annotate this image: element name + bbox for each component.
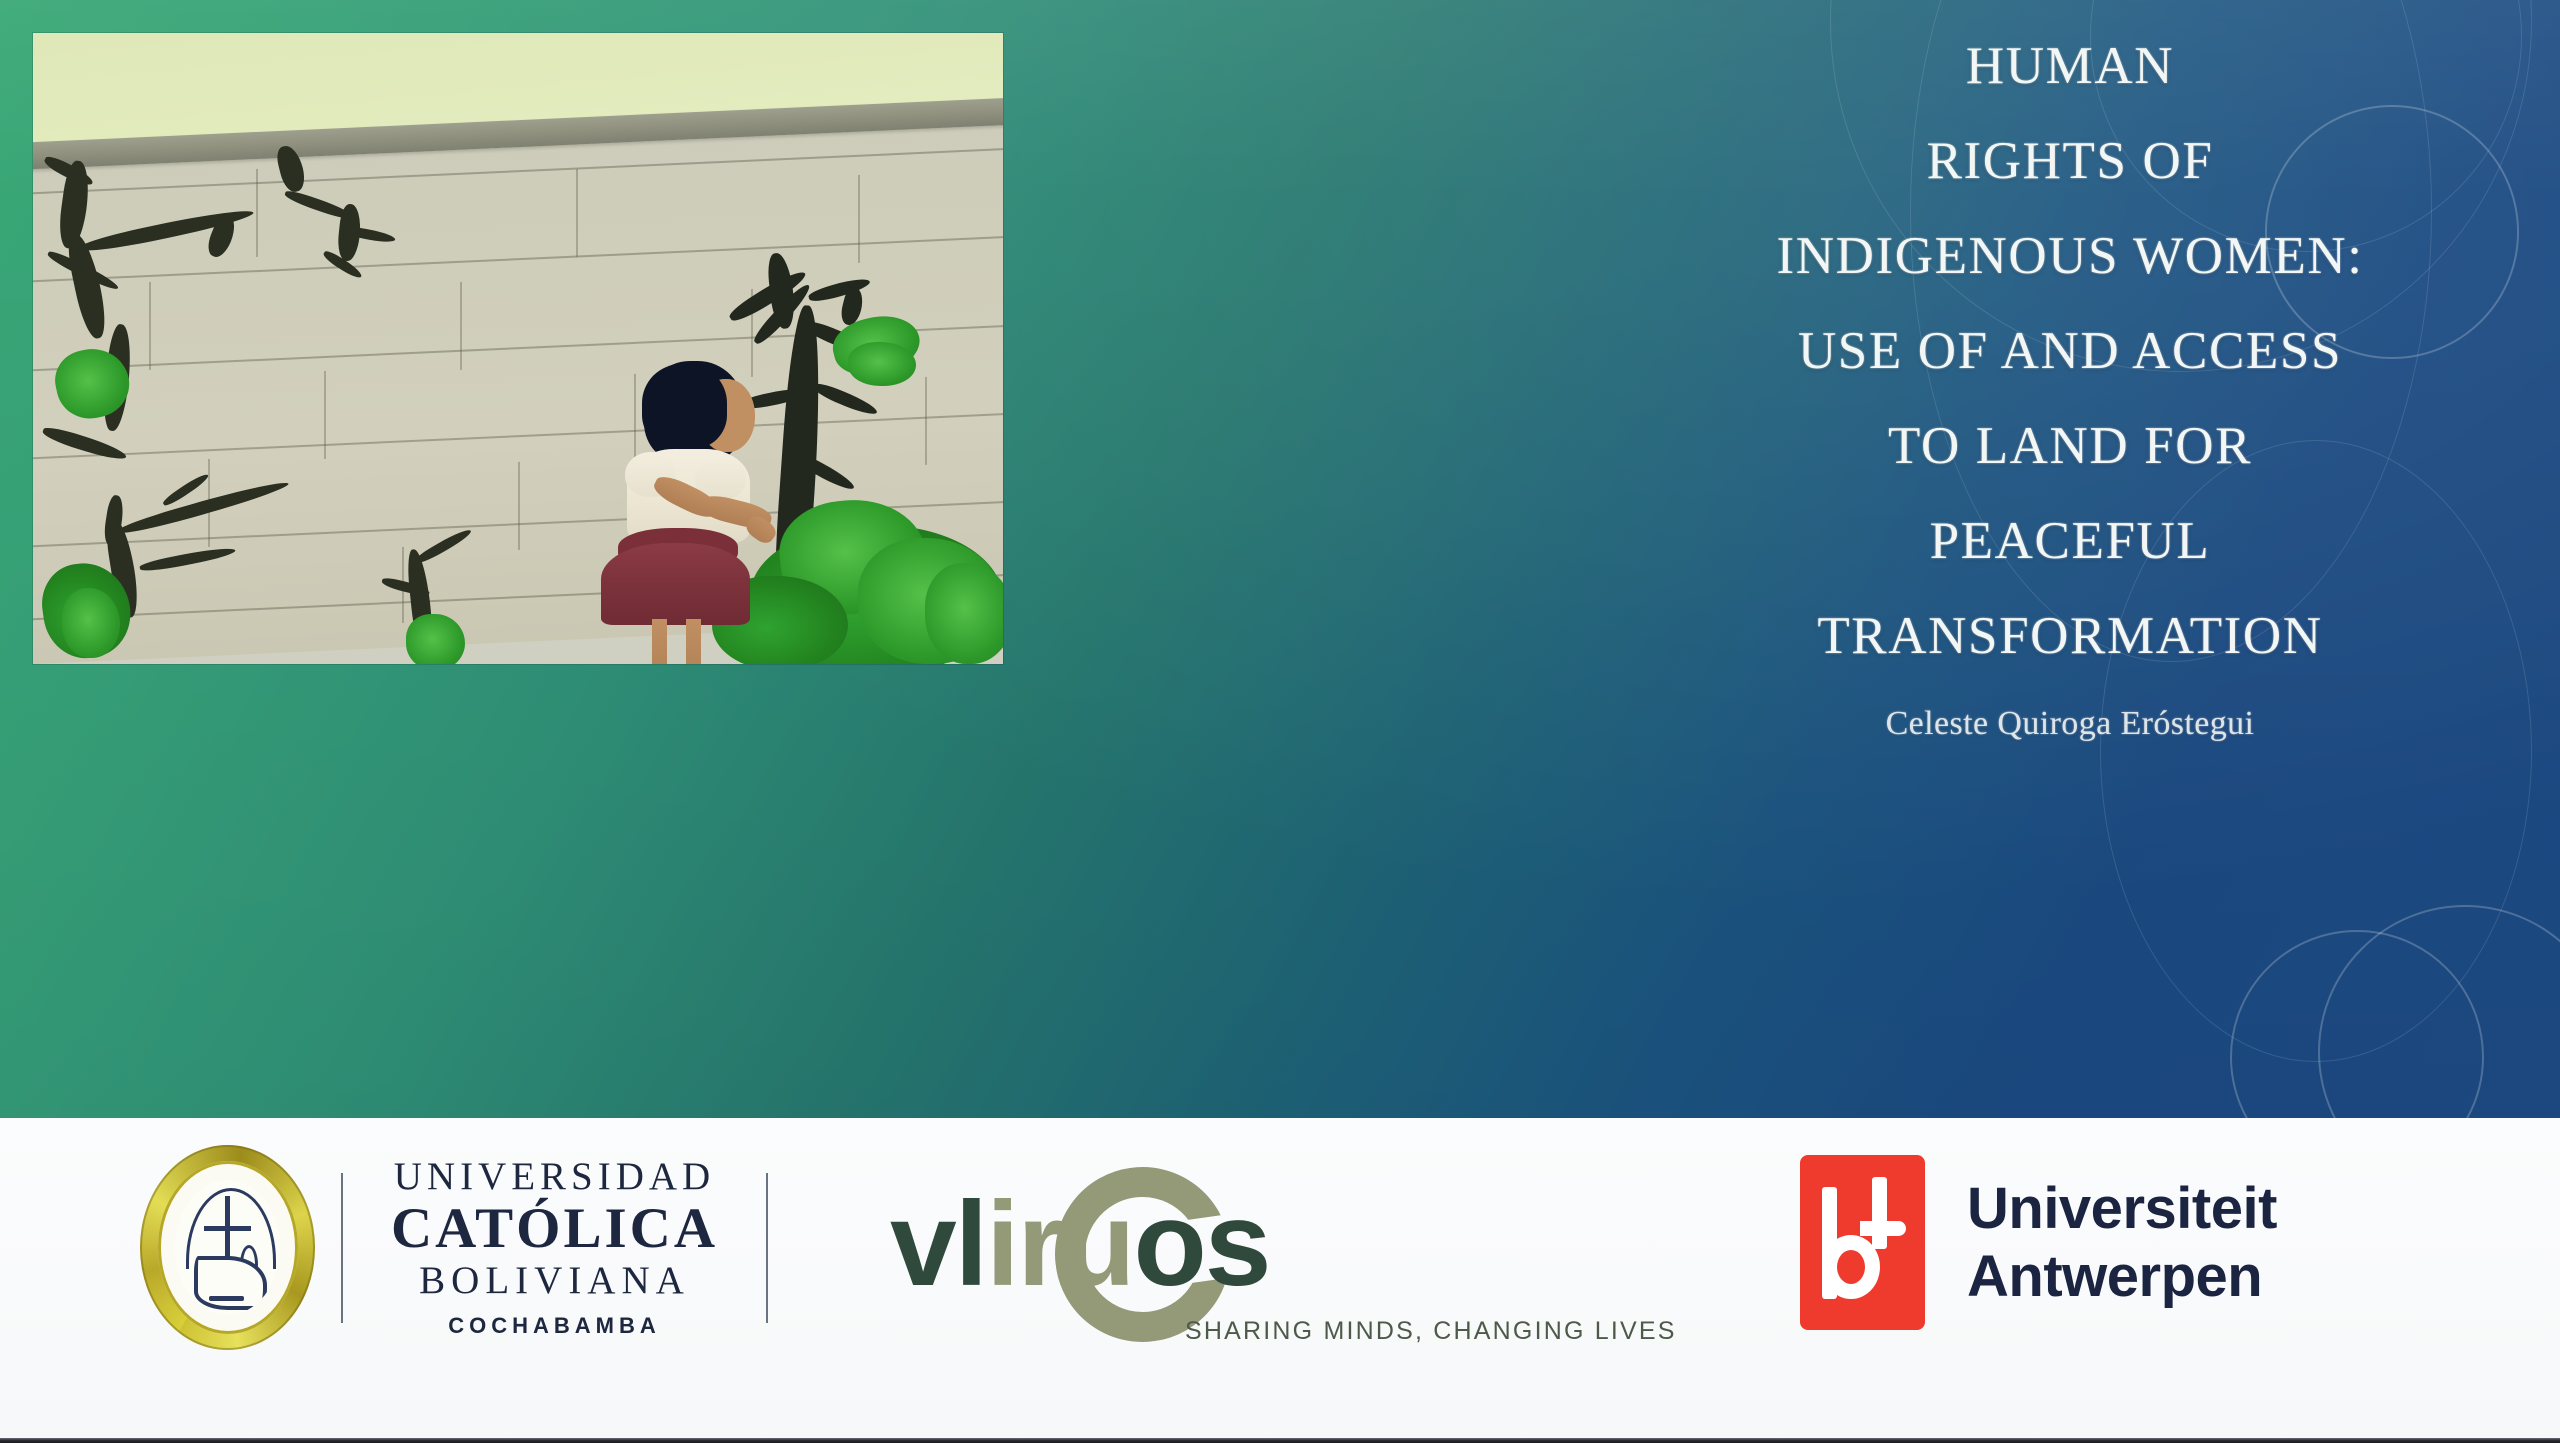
poster-title-block: HUMAN RIGHTS OF INDIGENOUS WOMEN: USE OF… (1620, 40, 2520, 743)
divider (766, 1173, 768, 1323)
vliruos-vl: vl (890, 1177, 986, 1311)
vliruos-os: os (1133, 1177, 1269, 1311)
ucb-line-universidad: UNIVERSIDAD (391, 1156, 718, 1198)
author-name: Celeste Quiroga Eróstegui (1620, 705, 2520, 743)
girl-leg (686, 619, 701, 664)
logo-universiteit-antwerpen: Universiteit Antwerpen (1800, 1155, 2277, 1330)
screen-bottom-edge (0, 1438, 2560, 1443)
vliruos-tagline: SHARING MINDS, CHANGING LIVES (1185, 1317, 1677, 1346)
girl-hair (642, 364, 727, 449)
title-line: USE OF AND ACCESS (1620, 325, 2520, 378)
title-line: HUMAN (1620, 40, 2520, 93)
ua-line-universiteit: Universiteit (1967, 1175, 2277, 1242)
bush (925, 563, 1003, 664)
wall-joint (324, 371, 326, 459)
title-line: TO LAND FOR (1620, 420, 2520, 473)
ucb-line-cochabamba: COCHABAMBA (391, 1313, 718, 1339)
title-line: RIGHTS OF (1620, 135, 2520, 188)
title-line: INDIGENOUS WOMEN: (1620, 230, 2520, 283)
vliruos-ir: ir (986, 1177, 1062, 1311)
ucb-seal-icon (140, 1145, 315, 1350)
decorative-ring-icon (2318, 905, 2560, 1118)
title-line: TRANSFORMATION (1620, 610, 2520, 663)
artwork-canvas (33, 33, 1003, 664)
ua-monogram-icon (1800, 1155, 1925, 1330)
title-line: PEACEFUL (1620, 515, 2520, 568)
wall-joint (576, 169, 578, 257)
wall-joint (460, 282, 462, 370)
wall-joint (518, 462, 520, 550)
vliruos-u: u (1062, 1177, 1133, 1311)
ua-wordmark: Universiteit Antwerpen (1967, 1175, 2277, 1310)
ucb-line-catolica: CATÓLICA (391, 1198, 718, 1260)
wall-joint (256, 169, 258, 257)
decorative-ring-icon (2230, 930, 2484, 1118)
foliage-clump (848, 342, 916, 386)
ucb-wordmark: UNIVERSIDAD CATÓLICA BOLIVIANA COCHABAMB… (369, 1156, 740, 1339)
ua-line-antwerpen: Antwerpen (1967, 1243, 2277, 1310)
girl-skirt (601, 543, 750, 625)
presentation-slide: HUMAN RIGHTS OF INDIGENOUS WOMEN: USE OF… (0, 0, 2560, 1443)
girl-figure (605, 361, 818, 664)
girl-leg (652, 619, 667, 664)
logo-vliruos: vliruos SHARING MINDS, CHANGING LIVES (890, 1162, 1450, 1357)
artwork-panel (33, 33, 1003, 664)
logo-universidad-catolica-boliviana: UNIVERSIDAD CATÓLICA BOLIVIANA COCHABAMB… (140, 1145, 768, 1350)
ucb-line-boliviana: BOLIVIANA (391, 1259, 718, 1303)
wall-joint (858, 175, 860, 263)
foliage-clump (62, 588, 120, 657)
vliruos-wordmark: vliruos (890, 1184, 1269, 1304)
poster-background: HUMAN RIGHTS OF INDIGENOUS WOMEN: USE OF… (0, 0, 2560, 1118)
divider (341, 1173, 343, 1323)
